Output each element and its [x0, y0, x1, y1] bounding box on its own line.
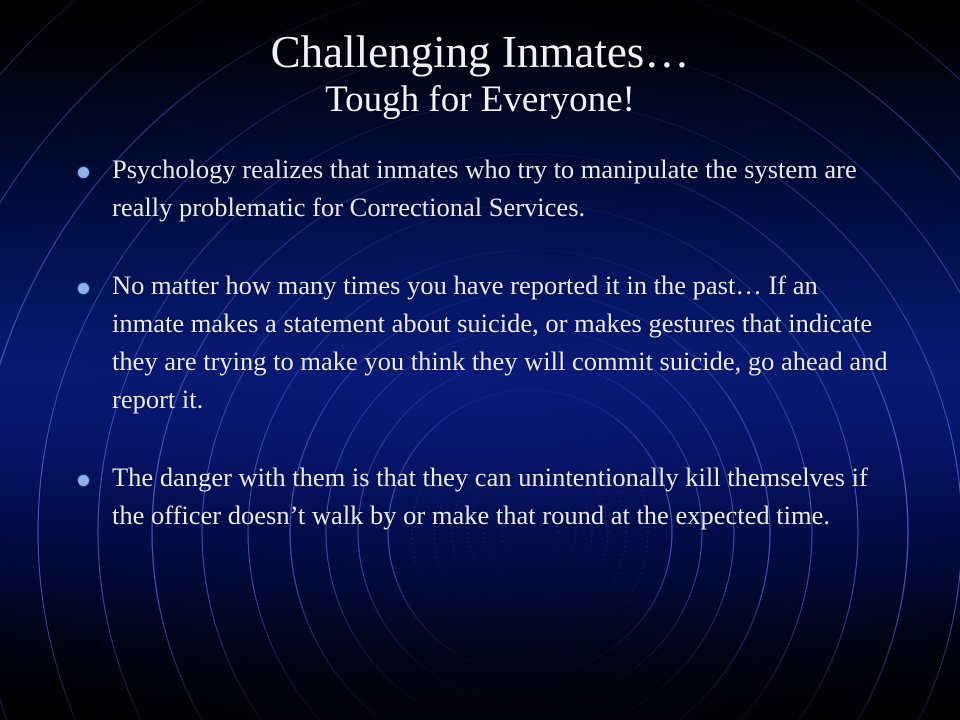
- slide-content: Challenging Inmates… Tough for Everyone!…: [0, 0, 960, 720]
- title-line-1: Challenging Inmates…: [40, 26, 920, 78]
- bullet-text: Psychology realizes that inmates who try…: [112, 150, 896, 226]
- list-item: No matter how many times you have report…: [78, 266, 896, 418]
- round-bullet-icon: [78, 475, 89, 486]
- title-line-2: Tough for Everyone!: [40, 78, 920, 122]
- list-item: The danger with them is that they can un…: [78, 458, 896, 534]
- slide-title: Challenging Inmates… Tough for Everyone!: [40, 26, 920, 122]
- list-item: Psychology realizes that inmates who try…: [78, 150, 896, 226]
- presentation-slide: Challenging Inmates… Tough for Everyone!…: [0, 0, 960, 720]
- round-bullet-icon: [78, 167, 89, 178]
- round-bullet-icon: [78, 283, 89, 294]
- bullet-text: No matter how many times you have report…: [112, 266, 896, 418]
- bullet-text: The danger with them is that they can un…: [112, 458, 896, 534]
- bullet-list: Psychology realizes that inmates who try…: [78, 150, 896, 534]
